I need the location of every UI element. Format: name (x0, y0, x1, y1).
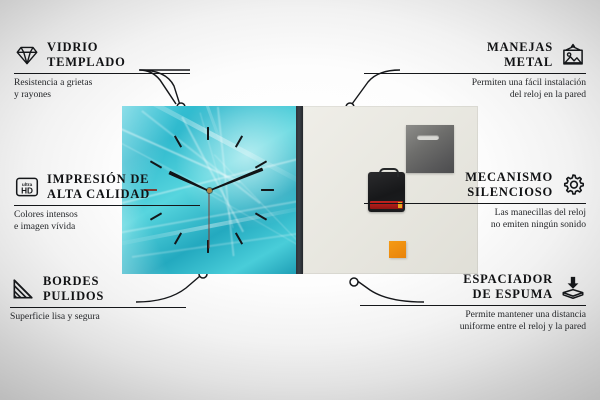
feature-description: Superficie lisa y segura (10, 311, 240, 323)
feature-rule (360, 305, 586, 306)
feature-tempered-glass: VIDRIO TEMPLADO Resistencia a grietas y … (14, 40, 244, 102)
feature-title: MANEJAS METAL (487, 40, 553, 70)
glass-edge-strip (296, 106, 303, 274)
feature-high-quality-print: ultra HD IMPRESIÓN DE ALTA CALIDAD Color… (14, 172, 244, 234)
feature-rule (364, 203, 586, 204)
feature-title: VIDRIO TEMPLADO (47, 40, 126, 70)
feature-description: Las manecillas del reloj no emiten ningú… (356, 207, 586, 232)
picture-hanger-icon (560, 42, 586, 68)
clock-tick (207, 127, 209, 140)
feature-header: VIDRIO TEMPLADO (14, 40, 244, 70)
feature-description: Colores intensos e imagen vívida (14, 209, 244, 234)
feature-title: MECANISMO SILENCIOSO (465, 170, 553, 200)
feature-description: Permite mantener una distancia uniforme … (356, 309, 586, 334)
feature-description: Resistencia a grietas y rayones (14, 77, 244, 102)
feature-header: ultra HD IMPRESIÓN DE ALTA CALIDAD (14, 172, 244, 202)
feature-foam-spacer: ESPACIADOR DE ESPUMA Permite mantener un… (356, 272, 586, 334)
feature-header: MECANISMO SILENCIOSO (356, 170, 586, 200)
feature-title: ESPACIADOR DE ESPUMA (463, 272, 553, 302)
ultra-hd-icon: ultra HD (14, 174, 40, 200)
metal-hanger-plate (406, 125, 454, 173)
diamond-icon (14, 42, 40, 68)
hanger-slot (417, 135, 439, 140)
gear-icon (560, 172, 586, 198)
feature-title: IMPRESIÓN DE ALTA CALIDAD (47, 172, 150, 202)
feature-rule (14, 73, 190, 74)
feature-metal-hangers: MANEJAS METAL Permiten una fácil instala… (356, 40, 586, 102)
infographic-canvas: VIDRIO TEMPLADO Resistencia a grietas y … (0, 0, 600, 400)
svg-text:HD: HD (21, 186, 33, 195)
press-pad-icon (560, 274, 586, 300)
feature-polished-edges: BORDES PULIDOS Superficie lisa y segura (10, 274, 240, 323)
polished-edge-icon (10, 276, 36, 302)
feature-description: Permiten una fácil instalación del reloj… (356, 77, 586, 102)
foam-spacer-pad (389, 241, 406, 258)
clock-tick (261, 189, 274, 191)
feature-header: BORDES PULIDOS (10, 274, 240, 304)
feature-header: ESPACIADOR DE ESPUMA (356, 272, 586, 302)
feature-silent-mechanism: MECANISMO SILENCIOSO Las manecillas del … (356, 170, 586, 232)
feature-title: BORDES PULIDOS (43, 274, 104, 304)
feature-header: MANEJAS METAL (356, 40, 586, 70)
feature-rule (10, 307, 186, 308)
feature-rule (364, 73, 586, 74)
feature-rule (14, 205, 200, 206)
